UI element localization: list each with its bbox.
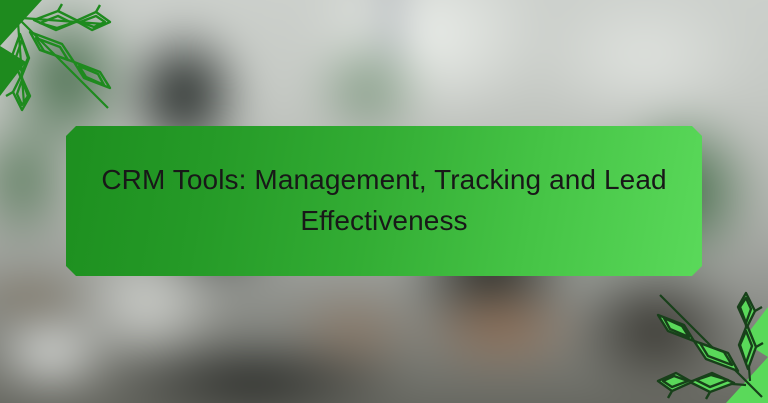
leaf-ornament-top-left-icon	[0, 0, 120, 120]
title-banner: CRM Tools: Management, Tracking and Lead…	[66, 126, 702, 276]
leaf-ornament-bottom-right-icon	[648, 283, 768, 403]
background-laptop-screen	[0, 295, 136, 403]
title-card-canvas: CRM Tools: Management, Tracking and Lead…	[0, 0, 768, 403]
page-title: CRM Tools: Management, Tracking and Lead…	[94, 160, 674, 241]
